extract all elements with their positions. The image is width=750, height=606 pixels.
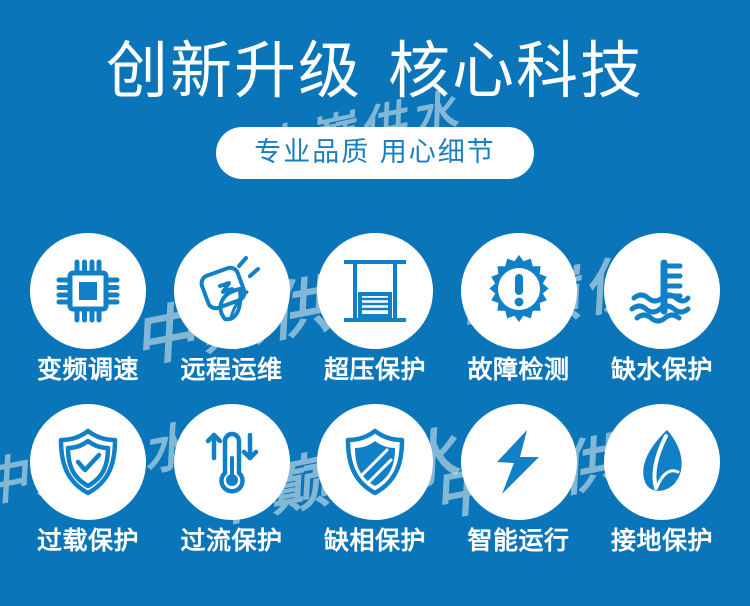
shield-check-icon [52,426,124,498]
feature-icon-circle [30,233,146,349]
water-level-icon [624,253,700,329]
feature-label: 超压保护 [324,355,426,385]
feature-item[interactable]: 智能运行 [454,404,584,556]
page-title: 创新升级核心科技 [0,36,750,108]
feature-item[interactable]: 故障检测 [454,233,584,385]
feature-row: 变频调速 [23,233,727,385]
feature-icon-circle [461,233,577,349]
feature-icon-circle [604,404,720,520]
feature-grid: 变频调速 [23,233,727,556]
feature-icon-circle [317,404,433,520]
feature-item[interactable]: 缺水保护 [597,233,727,385]
feature-label: 缺水保护 [611,355,713,385]
shield-solid-icon [339,426,411,498]
feature-item[interactable]: 变频调速 [23,233,153,385]
lightning-bolt-icon [483,426,555,498]
cpu-chip-icon [52,255,124,327]
feature-icon-circle [174,233,290,349]
feature-label: 智能运行 [467,526,569,556]
feature-item[interactable]: 过流保护 [167,404,297,556]
feature-label: 过载保护 [37,526,139,556]
subtitle-pill-wrap: 专业品质 用心细节 [0,127,750,179]
feature-item[interactable]: 过载保护 [23,404,153,556]
feature-label: 远程运维 [180,355,282,385]
leaf-drop-icon [626,426,698,498]
feature-label: 变频调速 [37,355,139,385]
thermometer-arrows-icon [196,426,268,498]
press-plate-icon [338,254,412,328]
headline-left: 创新升级 [106,37,362,106]
feature-label: 故障检测 [467,355,569,385]
feature-item[interactable]: 远程运维 [167,233,297,385]
feature-row: 过载保护 [23,404,727,556]
gear-alert-icon [481,253,557,329]
feature-icon-circle [604,233,720,349]
feature-icon-circle [317,233,433,349]
feature-label: 过流保护 [180,526,282,556]
feature-banner: 中巅供水 中巅供水 中巅供水 中巅供水 中巅供水 中巅供水 创新升级核心科技 专… [0,0,750,606]
plug-leaf-icon [194,253,270,329]
feature-item[interactable]: 接地保护 [597,404,727,556]
feature-icon-circle [30,404,146,520]
feature-item[interactable]: 缺相保护 [310,404,440,556]
feature-item[interactable]: 超压保护 [310,233,440,385]
subtitle-pill: 专业品质 用心细节 [216,127,534,179]
feature-icon-circle [174,404,290,520]
feature-label: 缺相保护 [324,526,426,556]
feature-label: 接地保护 [611,526,713,556]
headline-right: 核心科技 [388,37,644,106]
feature-icon-circle [461,404,577,520]
